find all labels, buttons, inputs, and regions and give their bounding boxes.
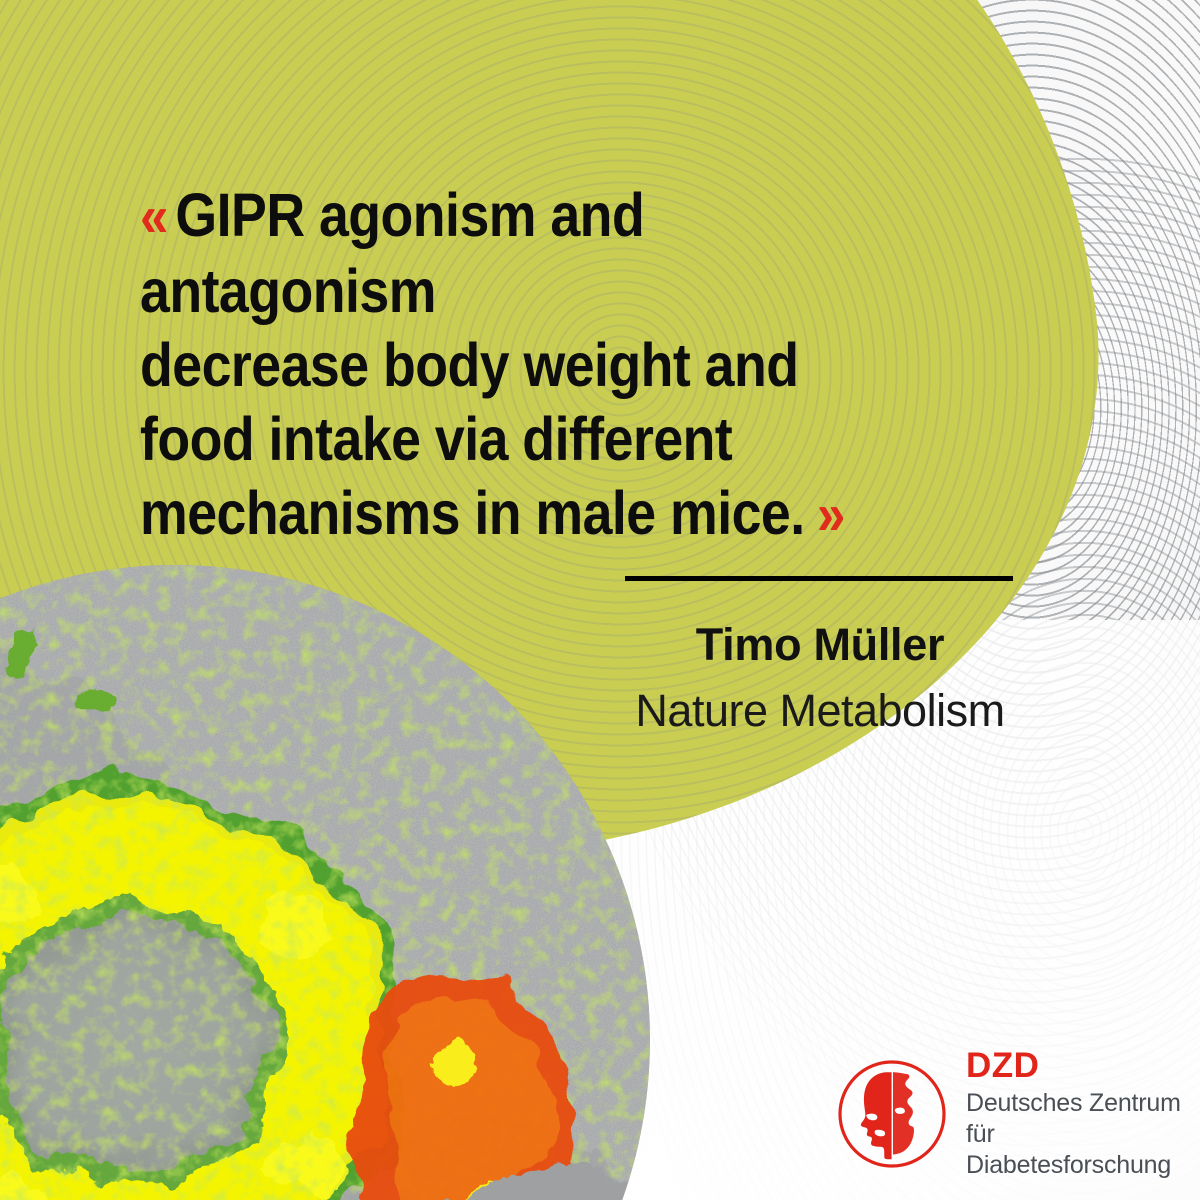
- attribution-block: Timo Müller Nature Metabolism: [560, 618, 1080, 738]
- quote-poster: «GIPR agonism and antagonismdecrease bod…: [0, 0, 1200, 1200]
- quote-line-2: decrease body weight and: [140, 331, 799, 399]
- quote-line-4: mechanisms in male mice.: [140, 479, 805, 547]
- dzd-subtitle-line-1: Deutsches Zentrum: [966, 1088, 1200, 1119]
- dzd-logo[interactable]: DZD Deutsches Zentrum für Diabetesforsch…: [836, 1046, 1200, 1181]
- dzd-portrait-circle-icon: [836, 1058, 948, 1170]
- dzd-subtitle-line-2: für Diabetesforschung: [966, 1119, 1200, 1181]
- dzd-logo-wordmark: DZD Deutsches Zentrum für Diabetesforsch…: [966, 1046, 1200, 1181]
- quote-line-1: GIPR agonism and antagonism: [140, 181, 644, 325]
- attribution-divider: [625, 576, 1013, 581]
- quote-open-chevron-icon: «: [140, 184, 167, 249]
- quote-block: «GIPR agonism and antagonismdecrease bod…: [140, 178, 1020, 552]
- author-name: Timo Müller: [560, 618, 1080, 672]
- dzd-acronym: DZD: [966, 1048, 1200, 1084]
- quote-line-3: food intake via different: [140, 405, 732, 473]
- quote-close-chevron-icon: »: [817, 482, 844, 547]
- quote-text: «GIPR agonism and antagonismdecrease bod…: [140, 178, 914, 552]
- publication-name: Nature Metabolism: [560, 684, 1080, 738]
